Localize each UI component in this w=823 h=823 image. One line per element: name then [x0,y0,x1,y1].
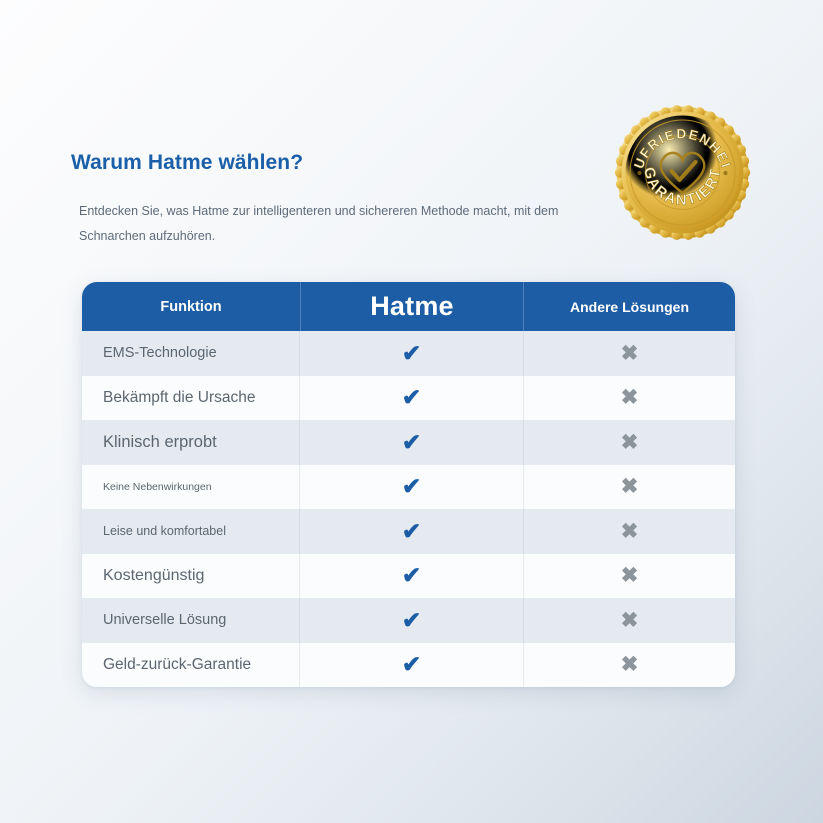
hatme-check-icon: ✔ [300,643,524,688]
column-header-feature: Funktion [82,282,300,331]
page-title: Warum Hatme wählen? [71,150,631,175]
hatme-check-icon: ✔ [300,331,524,376]
feature-label: Universelle Lösung [82,598,300,643]
feature-label: Bekämpft die Ursache [82,376,300,421]
table-row: Universelle Lösung✔✖ [82,598,735,643]
feature-label: EMS-Technologie [82,331,300,376]
other-cross-icon: ✖ [524,465,735,510]
column-header-other: Andere Lösungen [524,282,735,331]
page-header: Warum Hatme wählen? Entdecken Sie, was H… [71,150,631,249]
other-cross-icon: ✖ [524,643,735,688]
column-header-hatme: Hatme [300,282,524,331]
table-body: EMS-Technologie✔✖Bekämpft die Ursache✔✖K… [82,331,735,687]
table-row: EMS-Technologie✔✖ [82,331,735,376]
hatme-check-icon: ✔ [300,509,524,554]
feature-label: Keine Nebenwirkungen [82,465,300,510]
feature-label: Klinisch erprobt [82,420,300,465]
table-header-row: Funktion Hatme Andere Lösungen [82,282,735,331]
other-cross-icon: ✖ [524,509,735,554]
feature-label: Kostengünstig [82,554,300,599]
other-cross-icon: ✖ [524,554,735,599]
feature-label: Geld-zurück-Garantie [82,643,300,688]
other-cross-icon: ✖ [524,420,735,465]
table-row: Kostengünstig✔✖ [82,554,735,599]
other-cross-icon: ✖ [524,376,735,421]
table-row: Bekämpft die Ursache✔✖ [82,376,735,421]
hatme-check-icon: ✔ [300,465,524,510]
page-subtitle: Entdecken Sie, was Hatme zur intelligent… [79,199,579,249]
table-row: Geld-zurück-Garantie✔✖ [82,643,735,688]
hatme-check-icon: ✔ [300,598,524,643]
hatme-check-icon: ✔ [300,420,524,465]
table-row: Keine Nebenwirkungen✔✖ [82,465,735,510]
comparison-table: Funktion Hatme Andere Lösungen EMS-Techn… [82,282,735,687]
other-cross-icon: ✖ [524,598,735,643]
table-row: Klinisch erprobt✔✖ [82,420,735,465]
other-cross-icon: ✖ [524,331,735,376]
feature-label: Leise und komfortabel [82,509,300,554]
hatme-check-icon: ✔ [300,376,524,421]
hatme-check-icon: ✔ [300,554,524,599]
table-row: Leise und komfortabel✔✖ [82,509,735,554]
satisfaction-guarantee-badge: ZUFRIEDENHEIT GARANTIERT [612,102,753,243]
